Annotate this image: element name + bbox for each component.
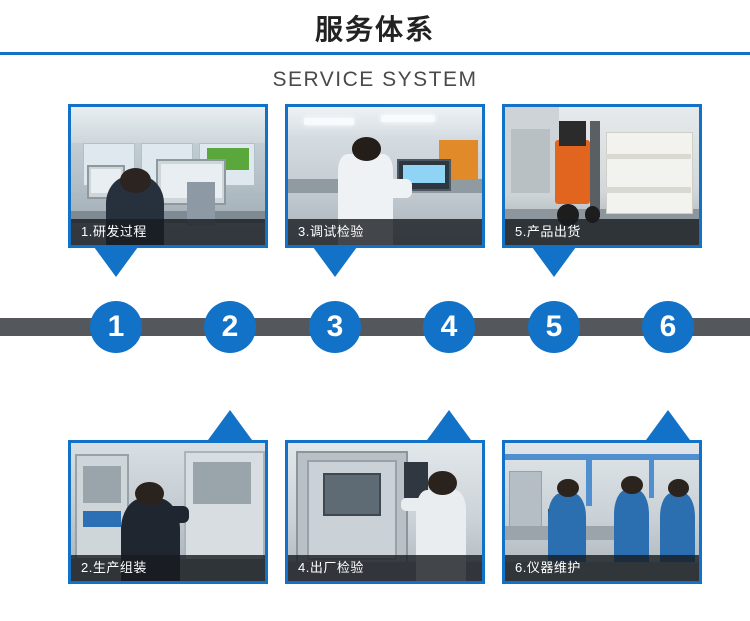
page-title: 服务体系 bbox=[0, 8, 750, 48]
step-card-2[interactable]: 2.生产组装 bbox=[68, 440, 268, 584]
pointer-step-1 bbox=[94, 247, 138, 277]
step-card-2-caption: 2.生产组装 bbox=[71, 555, 265, 581]
step-number-2[interactable]: 2 bbox=[204, 301, 256, 353]
pointer-step-3 bbox=[313, 247, 357, 277]
step-card-6-caption: 6.仪器维护 bbox=[505, 555, 699, 581]
pointer-step-2 bbox=[208, 410, 252, 440]
pointer-step-5 bbox=[532, 247, 576, 277]
step-card-1[interactable]: 1.研发过程 bbox=[68, 104, 268, 248]
step-number-5[interactable]: 5 bbox=[528, 301, 580, 353]
step-card-5-caption: 5.产品出货 bbox=[505, 219, 699, 245]
step-card-5[interactable]: 5.产品出货 bbox=[502, 104, 702, 248]
header-divider bbox=[0, 52, 750, 55]
step-number-6[interactable]: 6 bbox=[642, 301, 694, 353]
step-number-1[interactable]: 1 bbox=[90, 301, 142, 353]
step-card-4[interactable]: 4.出厂检验 bbox=[285, 440, 485, 584]
step-card-3-caption: 3.调试检验 bbox=[288, 219, 482, 245]
step-number-3[interactable]: 3 bbox=[309, 301, 361, 353]
step-card-1-caption: 1.研发过程 bbox=[71, 219, 265, 245]
step-number-4[interactable]: 4 bbox=[423, 301, 475, 353]
step-card-4-caption: 4.出厂检验 bbox=[288, 555, 482, 581]
pointer-step-6 bbox=[646, 410, 690, 440]
pointer-step-4 bbox=[427, 410, 471, 440]
page-subtitle: SERVICE SYSTEM bbox=[0, 68, 750, 92]
page-header: 服务体系 bbox=[0, 0, 750, 56]
step-card-3[interactable]: 3.调试检验 bbox=[285, 104, 485, 248]
step-card-6[interactable]: 6.仪器维护 bbox=[502, 440, 702, 584]
